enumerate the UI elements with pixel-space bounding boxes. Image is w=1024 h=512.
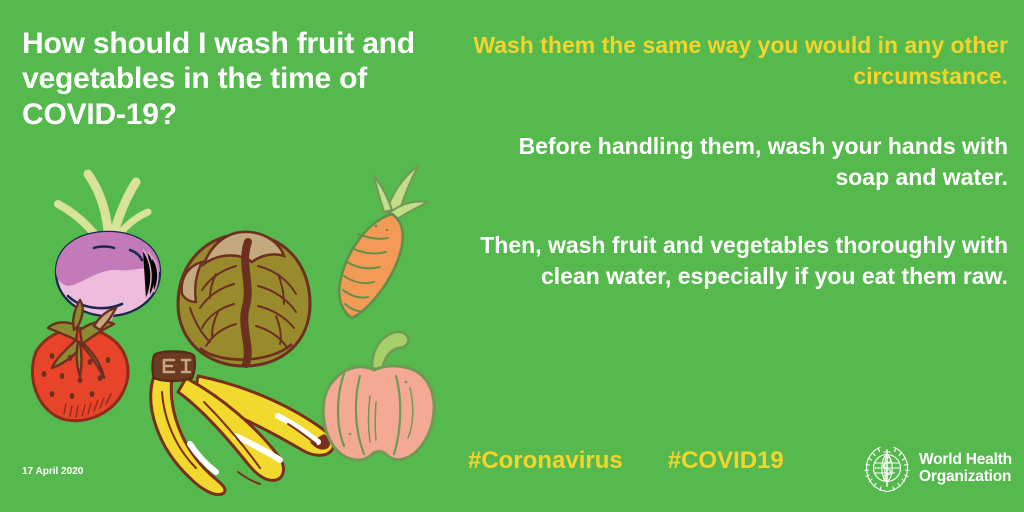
lead-paragraph: Wash them the same way you would in any …: [470, 30, 1008, 91]
hashtag-group: #Coronavirus#COVID19: [468, 447, 784, 475]
who-emblem-icon: [862, 444, 912, 494]
who-wordmark: World Health Organization: [919, 452, 1012, 485]
hashtag-covid19: #COVID19: [668, 447, 784, 475]
who-wordmark-line2: Organization: [919, 468, 1011, 485]
body-paragraph-2: Before handling them, wash your hands wi…: [470, 131, 1008, 192]
hashtag-coronavirus: #Coronavirus: [468, 447, 623, 475]
bell-pepper-illustration: [298, 318, 448, 473]
carrot-illustration: [330, 160, 440, 330]
body-text-column: Wash them the same way you would in any …: [470, 30, 1008, 291]
date-stamp: 17 April 2020: [22, 466, 83, 477]
who-wordmark-line1: World Health: [919, 451, 1012, 468]
body-paragraph-3: Then, wash fruit and vegetables thorough…: [470, 230, 1008, 291]
page-title: How should I wash fruit and vegetables i…: [22, 26, 472, 132]
who-logo: World Health Organization: [862, 443, 1012, 495]
poster-canvas: How should I wash fruit and vegetables i…: [0, 0, 1024, 512]
